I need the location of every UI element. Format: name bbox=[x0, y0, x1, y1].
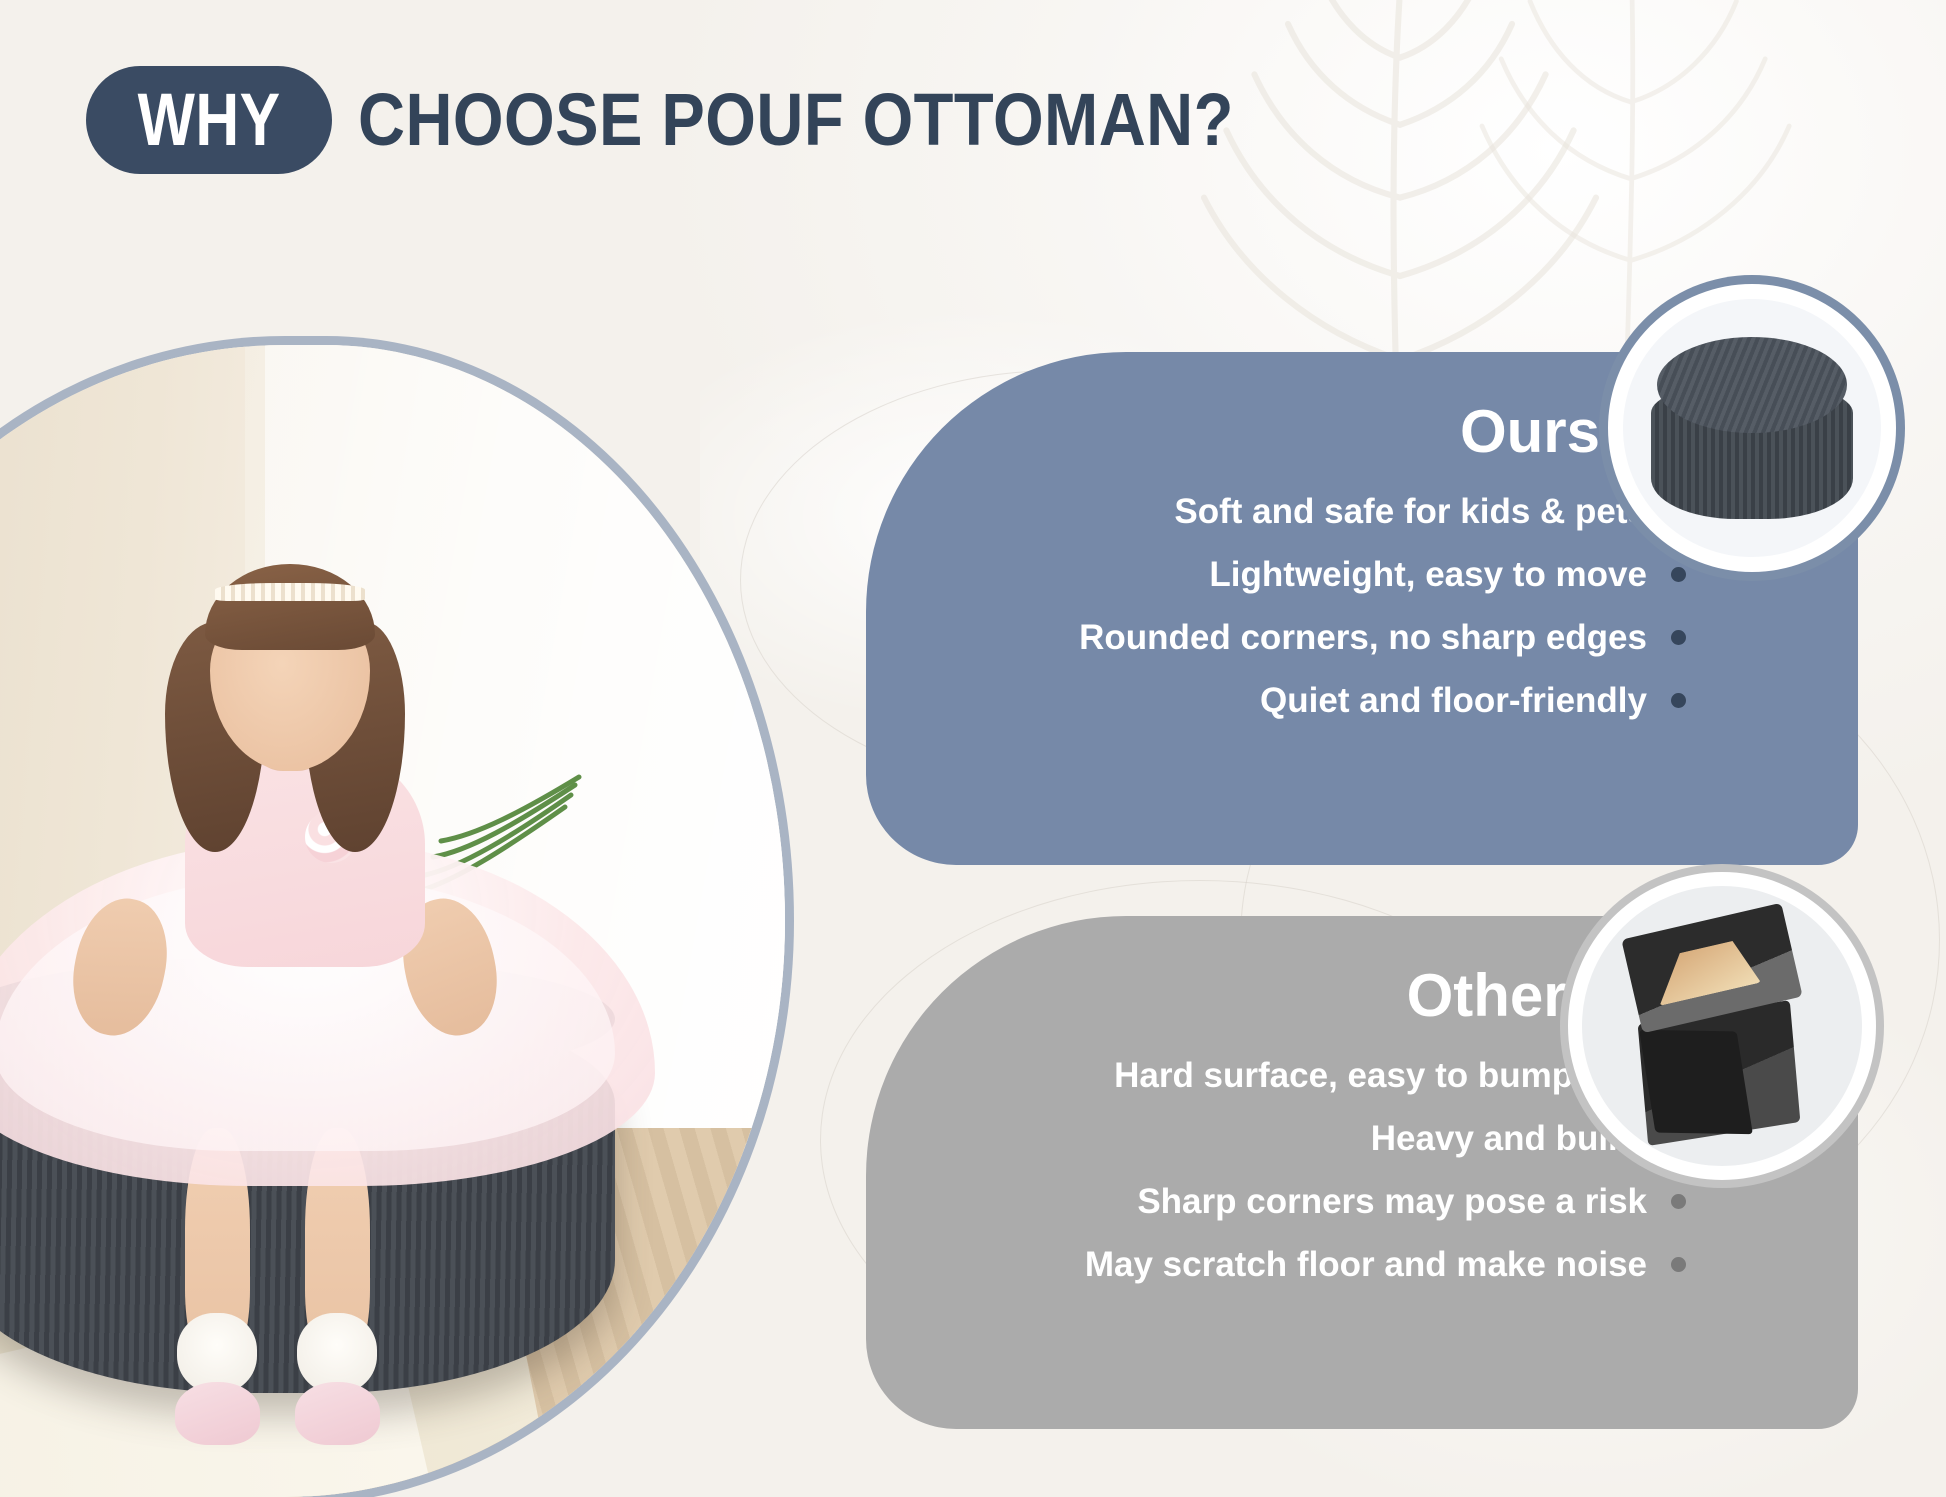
hero-photo-container bbox=[0, 345, 785, 1497]
ours-bullet-1: Soft and safe for kids & pets bbox=[1174, 492, 1647, 532]
ours-panel-header: Ours bbox=[910, 400, 1686, 464]
list-item: Quiet and floor-friendly bbox=[910, 669, 1686, 732]
others-bullet-3: Sharp corners may pose a risk bbox=[1137, 1182, 1647, 1222]
square-storage-ottoman-thumbnail bbox=[1568, 872, 1876, 1180]
ours-bullet-4: Quiet and floor-friendly bbox=[1260, 681, 1647, 721]
others-bullet-4: May scratch floor and make noise bbox=[1085, 1245, 1647, 1285]
ours-bullet-list: Soft and safe for kids & pets Lightweigh… bbox=[910, 480, 1686, 732]
bullet-dot-icon bbox=[1671, 1194, 1686, 1209]
list-item: Heavy and bulky bbox=[910, 1107, 1686, 1170]
girl-sitting-on-pouf-photo bbox=[0, 345, 785, 1497]
page-title: CHOOSE POUF OTTOMAN? bbox=[358, 83, 1234, 157]
page-header: WHY CHOOSE POUF OTTOMAN? bbox=[86, 66, 1353, 174]
why-badge-label: WHY bbox=[138, 83, 281, 157]
bullet-dot-icon bbox=[1671, 1257, 1686, 1272]
round-corduroy-pouf-thumbnail bbox=[1608, 284, 1896, 572]
ours-bullet-3: Rounded corners, no sharp edges bbox=[1079, 618, 1647, 658]
bullet-dot-icon bbox=[1671, 693, 1686, 708]
bullet-dot-icon bbox=[1671, 567, 1686, 582]
list-item: Lightweight, easy to move bbox=[910, 543, 1686, 606]
list-item: Rounded corners, no sharp edges bbox=[910, 606, 1686, 669]
list-item: Soft and safe for kids & pets bbox=[910, 480, 1686, 543]
others-bullet-list: Hard surface, easy to bump into Heavy an… bbox=[910, 1044, 1686, 1296]
list-item: Sharp corners may pose a risk bbox=[910, 1170, 1686, 1233]
ours-bullet-2: Lightweight, easy to move bbox=[1209, 555, 1647, 595]
ours-title: Ours bbox=[1460, 402, 1600, 462]
list-item: May scratch floor and make noise bbox=[910, 1233, 1686, 1296]
others-bullet-1: Hard surface, easy to bump into bbox=[1114, 1056, 1647, 1096]
bullet-dot-icon bbox=[1671, 630, 1686, 645]
why-badge: WHY bbox=[86, 66, 332, 174]
